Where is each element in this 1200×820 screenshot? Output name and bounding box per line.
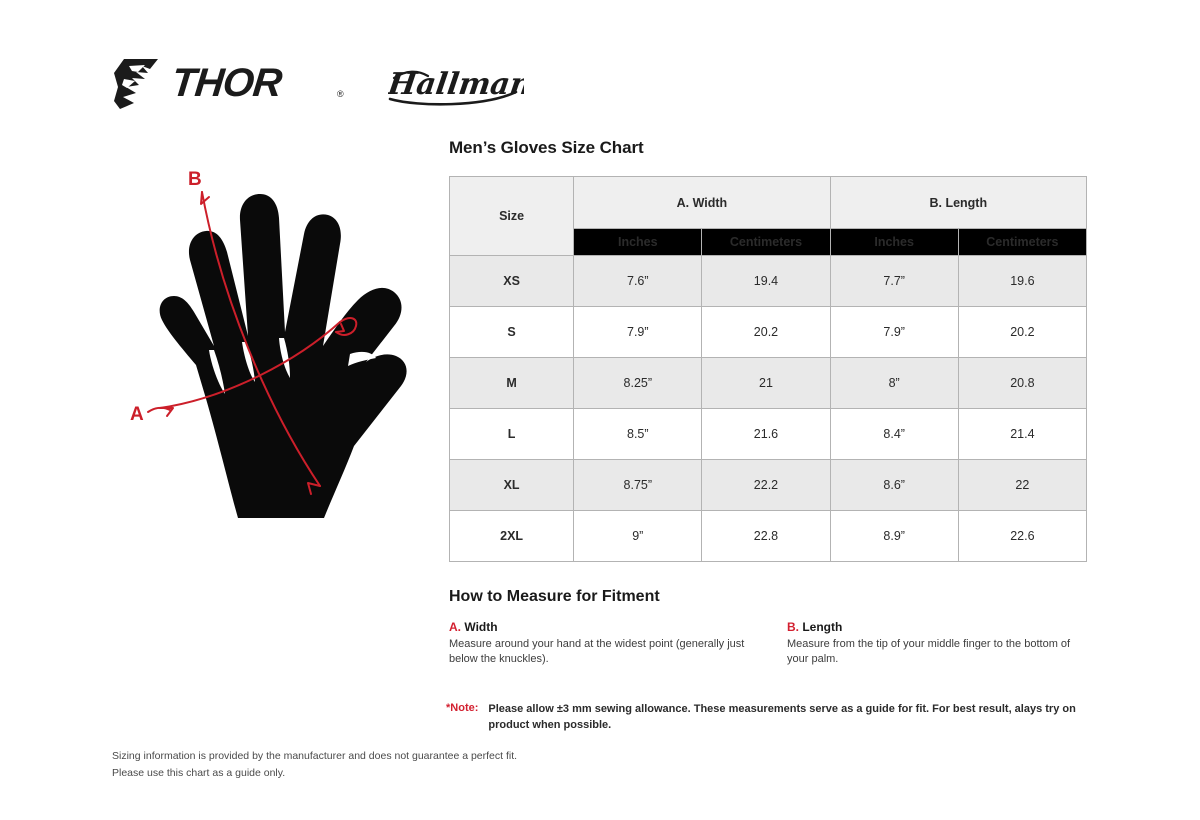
measure-marker-b: B. — [787, 620, 799, 634]
thor-helmet-icon — [112, 57, 172, 111]
cell-size: XS — [450, 256, 574, 307]
cell-size: M — [450, 358, 574, 409]
table-header-groups: Size A. Width B. Length — [450, 177, 1087, 229]
brand-logo-row: THOR ® Hallman — [112, 55, 524, 113]
page-title: Men’s Gloves Size Chart — [449, 138, 1087, 158]
table-row: XS 7.6” 19.4 7.7” 19.6 — [450, 256, 1087, 307]
measure-name-width: Width — [464, 620, 497, 634]
column-header-size: Size — [450, 177, 574, 256]
table-row: L 8.5” 21.6 8.4” 21.4 — [450, 409, 1087, 460]
cell-length-inches: 7.7” — [830, 256, 958, 307]
measure-item-length: B. Length Measure from the tip of your m… — [787, 620, 1089, 667]
svg-text:®: ® — [337, 89, 344, 99]
measure-text-length: Measure from the tip of your middle fing… — [787, 637, 1089, 667]
hand-silhouette — [160, 194, 407, 518]
cell-size: S — [450, 307, 574, 358]
length-label-b: B — [188, 169, 202, 190]
cell-width-inches: 8.5” — [574, 409, 702, 460]
cell-length-centimeters: 22.6 — [958, 511, 1086, 562]
footer-line-1: Sizing information is provided by the ma… — [112, 748, 517, 765]
cell-length-inches: 8” — [830, 358, 958, 409]
measure-name-length: Length — [802, 620, 842, 634]
cell-width-inches: 8.25” — [574, 358, 702, 409]
cell-length-centimeters: 21.4 — [958, 409, 1086, 460]
unit-header-length-inches: Inches — [830, 229, 958, 256]
cell-size: 2XL — [450, 511, 574, 562]
thor-logo: THOR ® — [112, 57, 354, 111]
cell-length-centimeters: 19.6 — [958, 256, 1086, 307]
column-group-length: B. Length — [830, 177, 1086, 229]
table-row: S 7.9” 20.2 7.9” 20.2 — [450, 307, 1087, 358]
cell-length-centimeters: 20.8 — [958, 358, 1086, 409]
unit-header-length-centimeters: Centimeters — [958, 229, 1086, 256]
unit-header-width-inches: Inches — [574, 229, 702, 256]
unit-header-width-centimeters: Centimeters — [702, 229, 830, 256]
cell-width-inches: 7.6” — [574, 256, 702, 307]
cell-width-centimeters: 20.2 — [702, 307, 830, 358]
cell-size: XL — [450, 460, 574, 511]
size-chart-table: Size A. Width B. Length Inches Centimete… — [449, 176, 1087, 562]
note-row: *Note: Please allow ±3 mm sewing allowan… — [446, 702, 1086, 734]
cell-width-centimeters: 22.2 — [702, 460, 830, 511]
cell-width-inches: 9” — [574, 511, 702, 562]
cell-length-inches: 8.4” — [830, 409, 958, 460]
cell-width-centimeters: 21.6 — [702, 409, 830, 460]
hand-measurement-diagram: B A — [118, 160, 428, 540]
cell-width-centimeters: 19.4 — [702, 256, 830, 307]
cell-width-centimeters: 22.8 — [702, 511, 830, 562]
cell-length-inches: 8.6” — [830, 460, 958, 511]
table-row: XL 8.75” 22.2 8.6” 22 — [450, 460, 1087, 511]
how-to-measure-section: How to Measure for Fitment A. Width Meas… — [449, 588, 1089, 667]
measure-item-length-heading: B. Length — [787, 620, 1089, 634]
cell-length-inches: 7.9” — [830, 307, 958, 358]
measure-marker-a: A. — [449, 620, 461, 634]
cell-width-centimeters: 21 — [702, 358, 830, 409]
cell-width-inches: 8.75” — [574, 460, 702, 511]
cell-width-inches: 7.9” — [574, 307, 702, 358]
table-row: M 8.25” 21 8” 20.8 — [450, 358, 1087, 409]
footer-line-2: Please use this chart as a guide only. — [112, 765, 517, 782]
cell-length-centimeters: 20.2 — [958, 307, 1086, 358]
measure-text-width: Measure around your hand at the widest p… — [449, 637, 751, 667]
note-label: *Note: — [446, 702, 478, 734]
hallman-logo: Hallman — [388, 58, 524, 110]
cell-length-centimeters: 22 — [958, 460, 1086, 511]
size-chart-panel: Men’s Gloves Size Chart Size A. Width B.… — [449, 138, 1087, 562]
cell-length-inches: 8.9” — [830, 511, 958, 562]
measure-item-width: A. Width Measure around your hand at the… — [449, 620, 751, 667]
footer-disclaimer: Sizing information is provided by the ma… — [112, 748, 517, 782]
width-label-a: A — [130, 404, 144, 425]
table-row: 2XL 9” 22.8 8.9” 22.6 — [450, 511, 1087, 562]
how-to-measure-title: How to Measure for Fitment — [449, 588, 1089, 606]
measure-item-width-heading: A. Width — [449, 620, 751, 634]
cell-size: L — [450, 409, 574, 460]
column-group-width: A. Width — [574, 177, 830, 229]
thor-wordmark: THOR ® — [174, 61, 354, 107]
svg-text:THOR: THOR — [174, 61, 284, 105]
note-text: Please allow ±3 mm sewing allowance. The… — [488, 702, 1086, 734]
